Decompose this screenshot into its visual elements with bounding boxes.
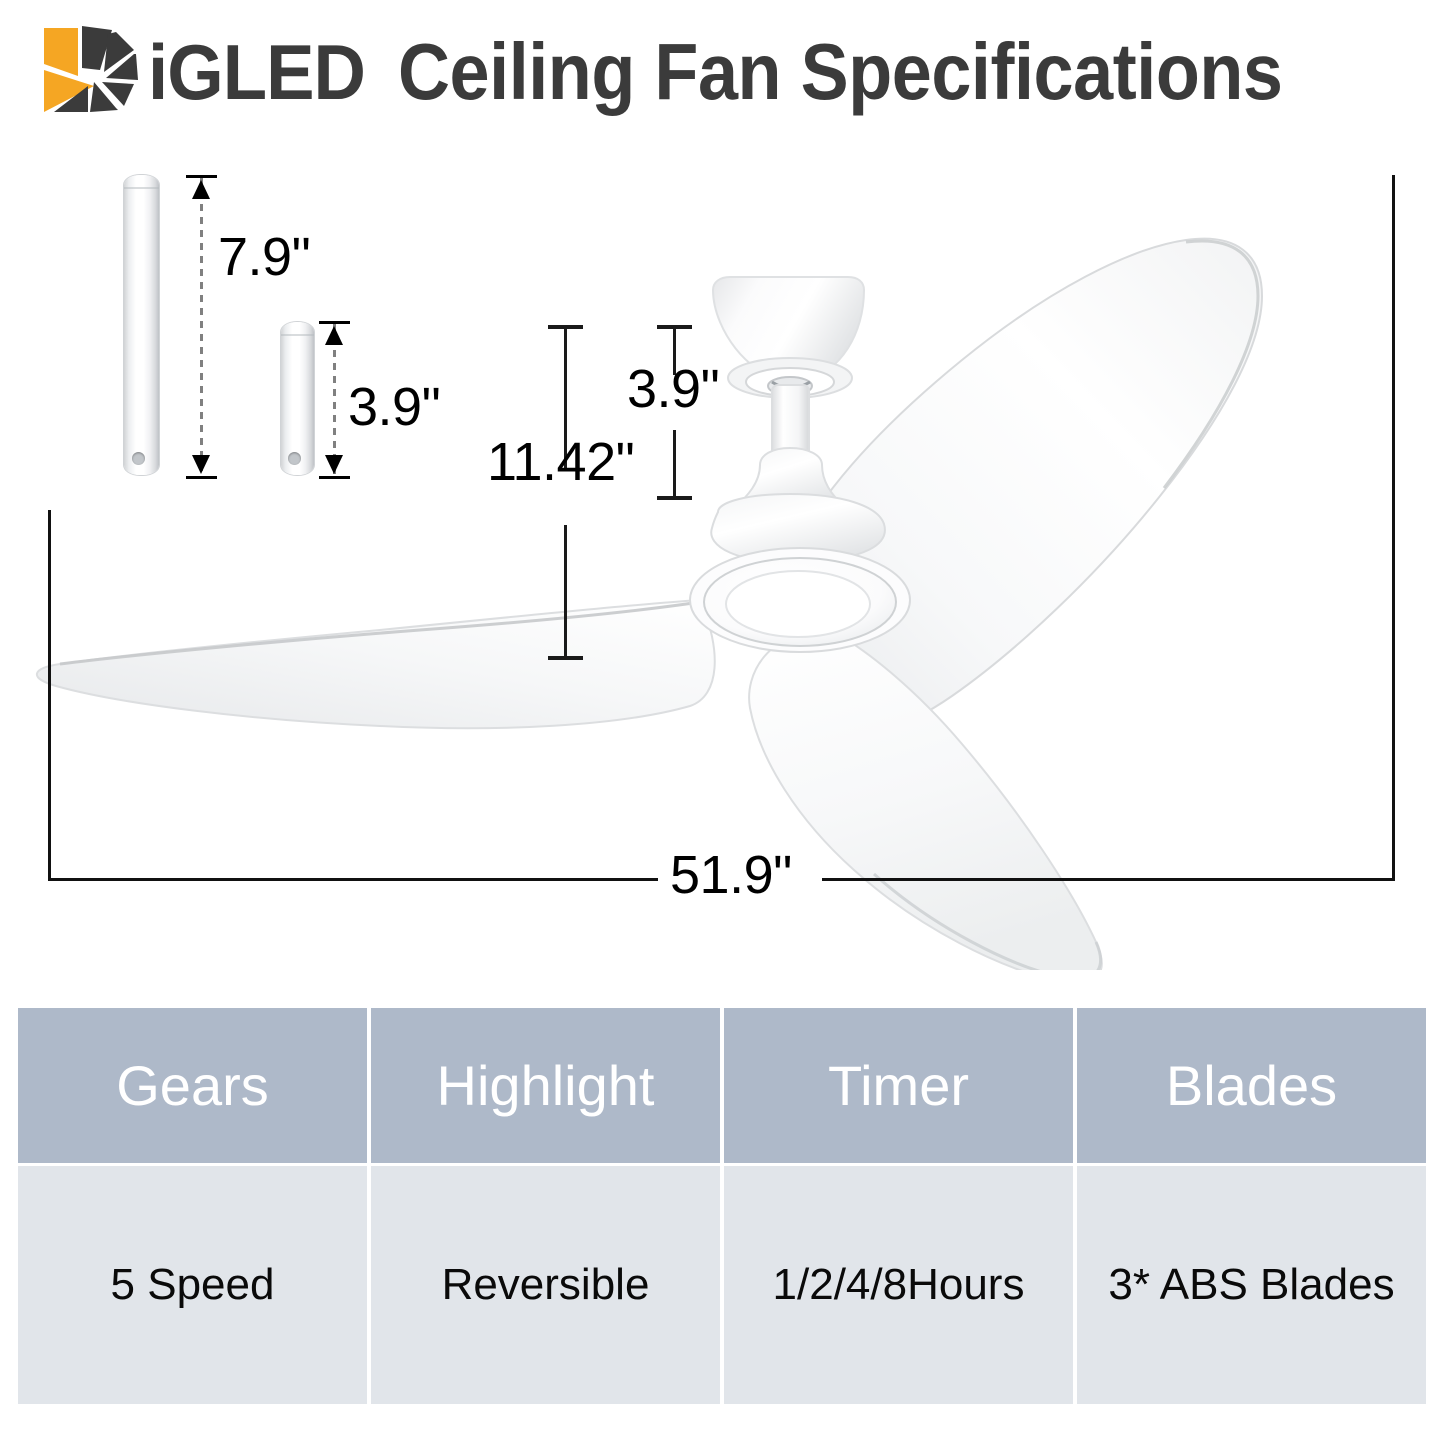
extension-line-right [1392,175,1395,880]
dimension-line-span-right [822,878,1395,881]
dim-cap-bottom [657,496,692,500]
dim-cap-top [657,325,692,329]
dimension-label-total-height: 11.42" [487,435,634,489]
table-header-row: Gears Highlight Timer Blades [18,1008,1426,1163]
table-header-timer: Timer [724,1008,1073,1163]
table-cell-blades: 3* ABS Blades [1077,1166,1426,1404]
dimension-line-canopy-lower [673,430,676,500]
table-header-gears: Gears [18,1008,367,1163]
table-cell-gears: 5 Speed [18,1166,367,1404]
table-header-highlight: Highlight [371,1008,720,1163]
dimension-line-span-left [48,878,658,881]
page-header: iGLED Ceiling Fan Specifications [0,0,1445,130]
ceiling-canopy [713,277,864,398]
dimension-label-blade-span: 51.9" [670,848,792,902]
table-header-blades: Blades [1077,1008,1426,1163]
igled-logo-icon [38,24,150,116]
extension-line-left [48,510,51,880]
table-cell-timer: 1/2/4/8Hours [724,1166,1073,1404]
table-row: 5 Speed Reversible 1/2/4/8Hours 3* ABS B… [18,1166,1426,1404]
page-title: Ceiling Fan Specifications [398,26,1282,118]
led-light-lens [690,548,910,652]
ceiling-fan-illustration [0,130,1445,970]
specification-table: Gears Highlight Timer Blades 5 Speed Rev… [18,1008,1426,1404]
dim-cap-top [548,325,583,329]
fan-blade-left [37,600,715,728]
dim-cap-bottom [548,656,583,660]
dimension-label-canopy: 3.9" [627,362,719,416]
dimension-line-total-height-lower [564,525,567,660]
brand-wordmark: iGLED [148,28,365,116]
fan-dimension-diagram: 7.9" 3.9" [0,130,1445,970]
table-cell-highlight: Reversible [371,1166,720,1404]
